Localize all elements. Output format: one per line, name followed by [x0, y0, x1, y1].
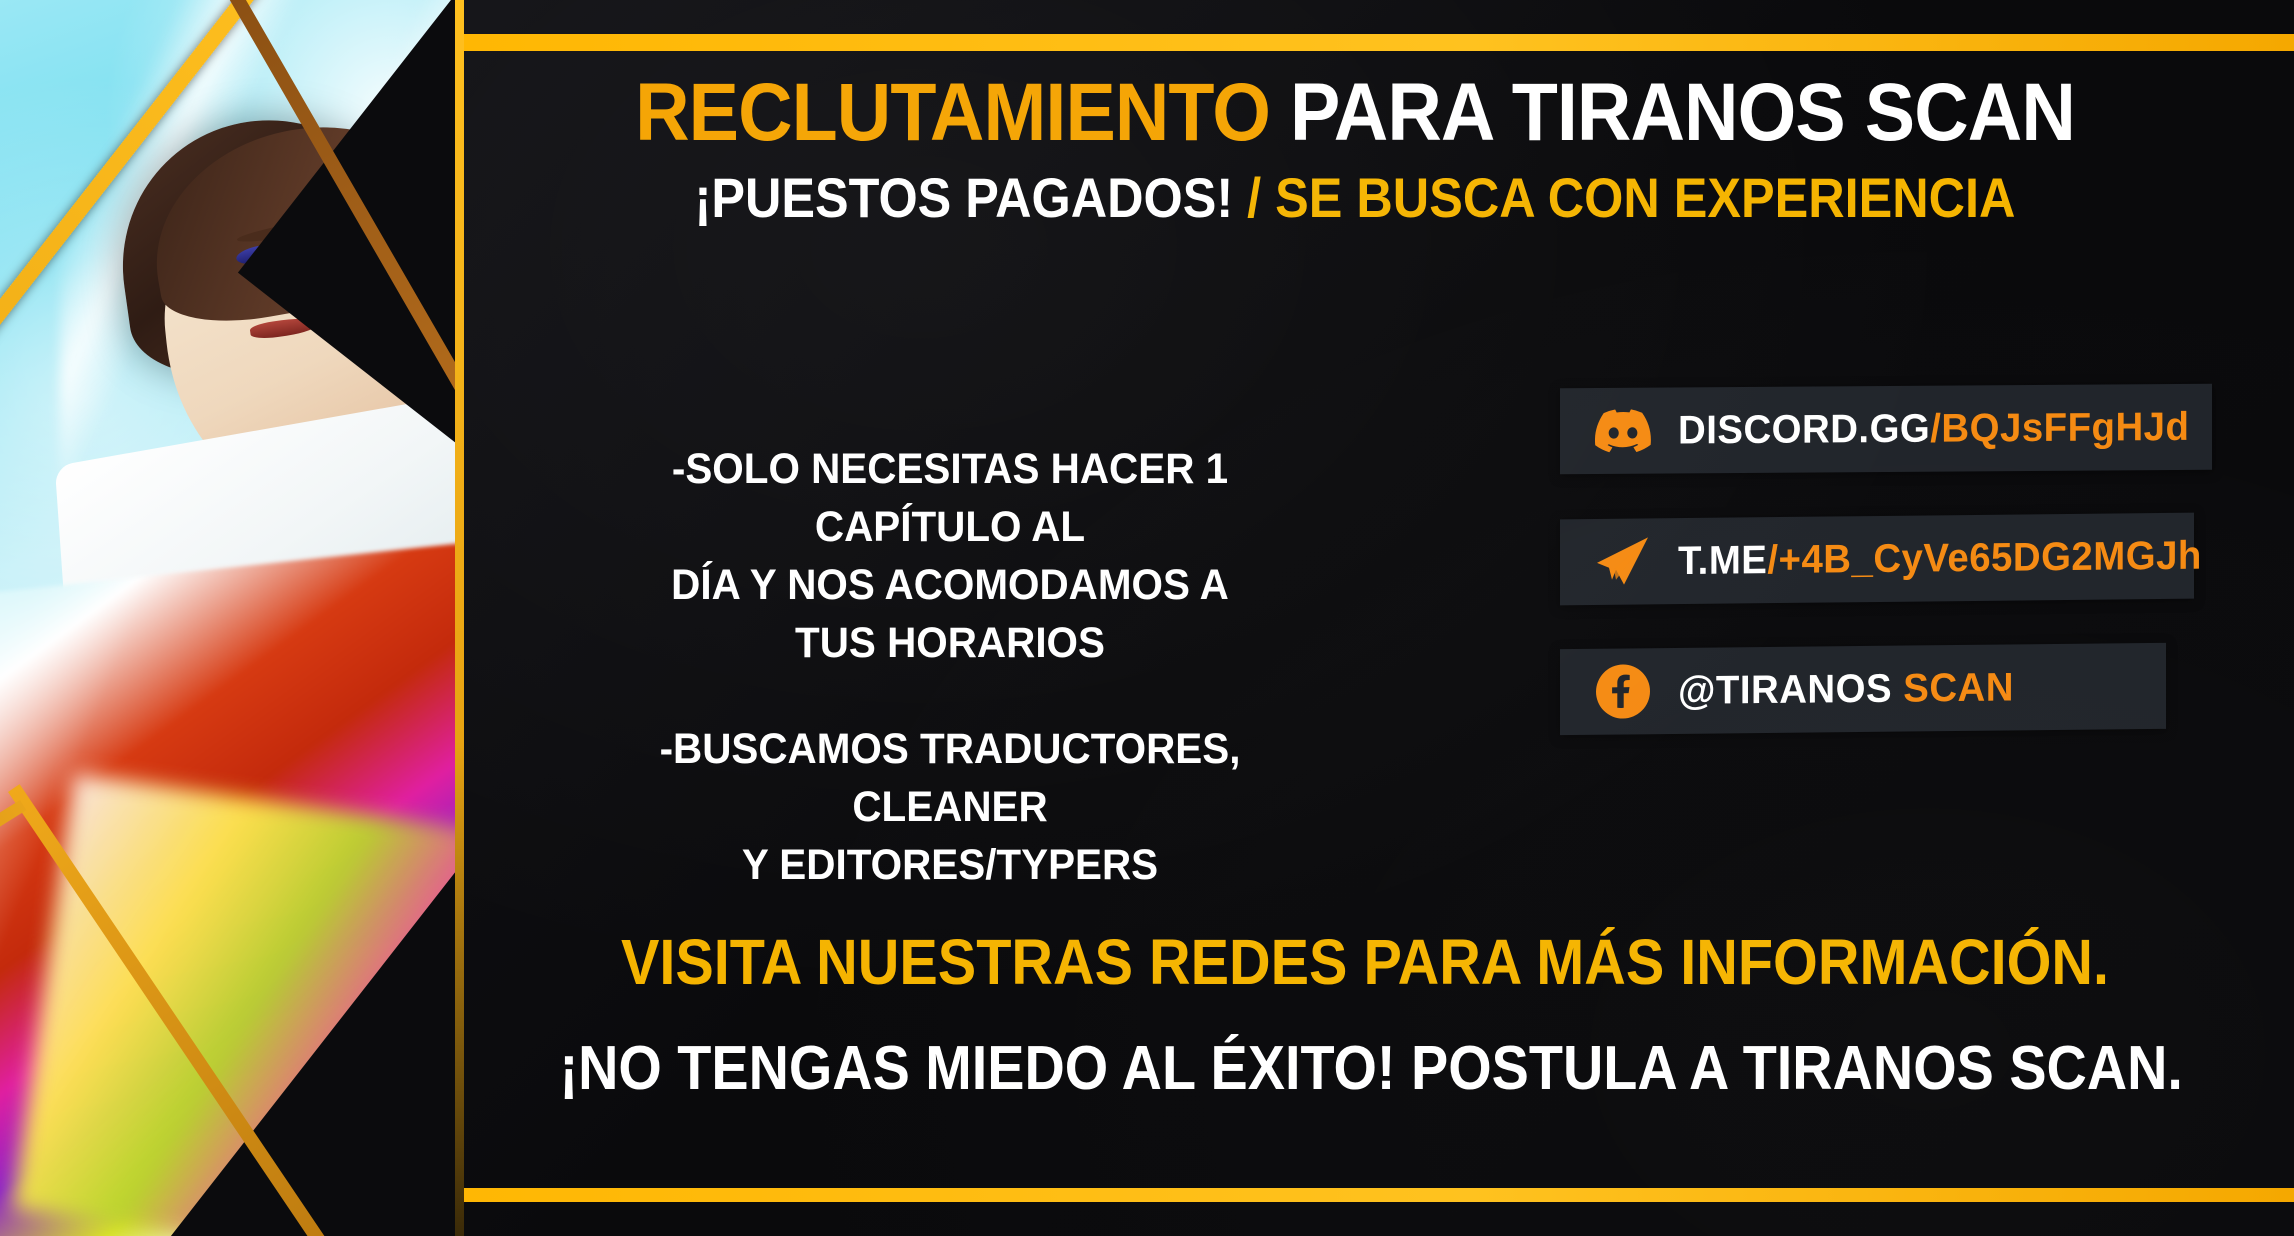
- contact-discord-label: DISCORD.GG/BQJsFFgHJd: [1678, 404, 2189, 453]
- recruitment-banner: RECLUTAMIENTO PARA TIRANOS SCAN ¡PUESTOS…: [0, 0, 2294, 1236]
- contact-facebook-handle: @TIRANOS: [1678, 666, 1903, 712]
- contact-telegram-code: /+4B_CyVe65DG2MGJh: [1767, 533, 2201, 582]
- contact-list: DISCORD.GG/BQJsFFgHJd T.ME/+4B_CyVe65DG2…: [1560, 386, 2220, 776]
- headline-plain-text: PARA TIRANOS SCAN: [1290, 67, 2075, 158]
- contact-telegram[interactable]: T.ME/+4B_CyVe65DG2MGJh: [1560, 513, 2194, 606]
- discord-icon: [1594, 402, 1652, 460]
- facebook-icon: [1594, 662, 1652, 721]
- requirement-paragraph: -SOLO NECESITAS HACER 1 CAPÍTULO AL DÍA …: [659, 440, 1242, 672]
- requirements-block: -SOLO NECESITAS HACER 1 CAPÍTULO AL DÍA …: [659, 440, 1242, 894]
- cta-line-2: ¡NO TENGAS MIEDO AL ÉXITO! POSTULA A TIR…: [560, 1038, 2171, 1100]
- gold-vertical-edge: [455, 0, 464, 1236]
- requirement-paragraph: -BUSCAMOS TRADUCTORES, CLEANER Y EDITORE…: [659, 720, 1242, 894]
- contact-facebook[interactable]: @TIRANOS SCAN: [1560, 643, 2166, 735]
- contact-discord-code: /BQJsFFgHJd: [1930, 404, 2189, 450]
- cta-line-1: VISITA NUESTRAS REDES PARA MÁS INFORMACI…: [560, 930, 2171, 994]
- subtitle-accent-text: / SE BUSCA CON EXPERIENCIA: [1247, 166, 2015, 229]
- gold-bar-bottom: [464, 1188, 2294, 1202]
- telegram-icon: [1594, 532, 1652, 591]
- contact-telegram-label: T.ME/+4B_CyVe65DG2MGJh: [1678, 533, 2202, 583]
- contact-facebook-suffix: SCAN: [1903, 665, 2014, 710]
- headline-accent-text: RECLUTAMIENTO: [635, 67, 1290, 158]
- contact-discord-domain: DISCORD.GG: [1678, 406, 1930, 452]
- requirement-line: DÍA Y NOS ACOMODAMOS A TUS HORARIOS: [659, 556, 1242, 672]
- requirement-line: Y EDITORES/TYPERS: [659, 836, 1242, 894]
- contact-discord[interactable]: DISCORD.GG/BQJsFFgHJd: [1560, 384, 2212, 475]
- gold-bar-top: [464, 34, 2294, 51]
- page-title: RECLUTAMIENTO PARA TIRANOS SCAN: [541, 72, 2169, 154]
- contact-facebook-label: @TIRANOS SCAN: [1678, 665, 2014, 714]
- requirement-line: -BUSCAMOS TRADUCTORES, CLEANER: [659, 720, 1242, 836]
- contact-telegram-domain: T.ME: [1678, 538, 1767, 583]
- requirement-line: -SOLO NECESITAS HACER 1 CAPÍTULO AL: [659, 440, 1242, 556]
- subtitle-plain-text: ¡PUESTOS PAGADOS!: [695, 166, 1248, 229]
- page-subtitle: ¡PUESTOS PAGADOS! / SE BUSCA CON EXPERIE…: [559, 170, 2152, 226]
